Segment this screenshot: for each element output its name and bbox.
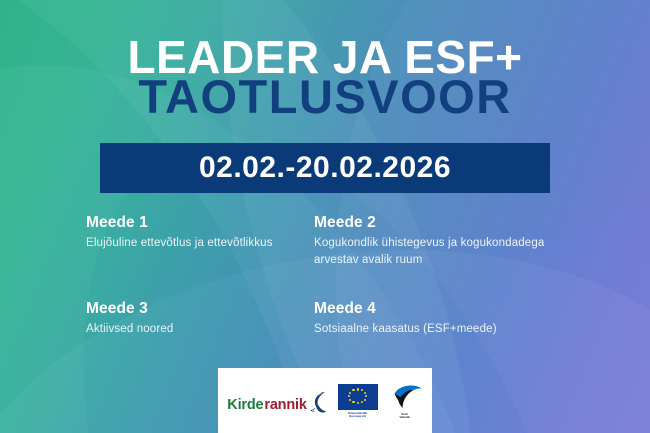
measure-item-3: Meede 3 Aktiivsed noored <box>86 292 314 338</box>
application-period-band: 02.02.-20.02.2026 <box>100 143 550 193</box>
poster-canvas: LEADER JA ESF+ TAOTLUSVOOR 02.02.-20.02.… <box>0 0 650 433</box>
measure-item-1: Meede 1 Elujõuline ettevõtlus ja ettevõt… <box>86 214 314 292</box>
measure-3-description: Aktiivsed noored <box>86 321 314 338</box>
kirderannik-logo-text-green: Kirde <box>227 398 263 413</box>
crane-bird-icon <box>309 391 329 415</box>
measure-1-title: Meede 1 <box>86 214 314 232</box>
kirderannik-logo: Kirde rannik <box>227 391 328 413</box>
measure-item-2: Meede 2 Kogukondlik ühistegevus ja koguk… <box>314 214 586 292</box>
eu-logo-caption: Kaasrahastab Euroopa Liit <box>338 412 378 419</box>
measure-3-title: Meede 3 <box>86 300 314 318</box>
logo-bar: Kirde rannik <box>218 368 432 433</box>
estonia-caption-line-2: Vabariik <box>400 416 410 419</box>
page-title: LEADER JA ESF+ TAOTLUSVOOR <box>0 36 650 119</box>
estonia-logo: Eesti Vabariik <box>387 384 423 420</box>
measure-item-4: Meede 4 Sotsiaalne kaasatus (ESF+meede) <box>314 292 586 338</box>
measure-4-title: Meede 4 <box>314 300 586 318</box>
application-period-dates: 02.02.-20.02.2026 <box>199 151 451 185</box>
measure-2-description: Kogukondlik ühistegevus ja kogukondadega… <box>314 235 564 268</box>
headline-line-2: TAOTLUSVOOR <box>0 75 650 118</box>
measure-2-title: Meede 2 <box>314 214 586 232</box>
european-union-logo: Kaasrahastab Euroopa Liit <box>338 384 378 419</box>
measure-1-description: Elujõuline ettevõtlus ja ettevõtlikkus <box>86 235 314 252</box>
kirderannik-logo-text-red: rannik <box>264 398 306 413</box>
estonia-flag-swoosh-icon <box>387 384 423 412</box>
estonia-logo-caption: Eesti Vabariik <box>387 413 423 420</box>
measure-4-description: Sotsiaalne kaasatus (ESF+meede) <box>314 321 564 338</box>
eu-caption-line-2: Euroopa Liit <box>349 414 366 418</box>
eu-flag-icon <box>338 384 378 410</box>
measures-grid: Meede 1 Elujõuline ettevõtlus ja ettevõt… <box>86 214 586 338</box>
